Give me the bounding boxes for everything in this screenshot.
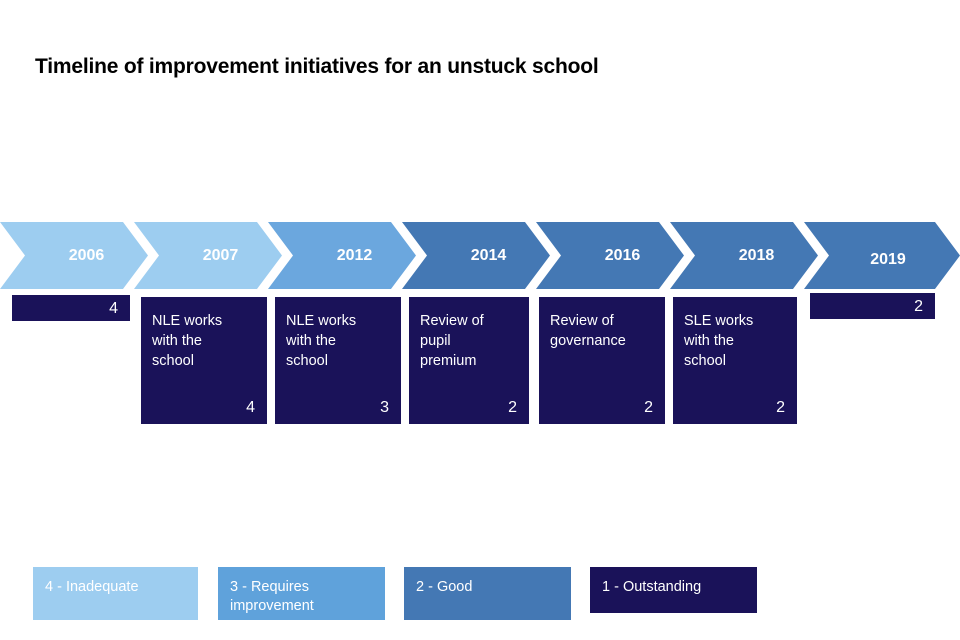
legend-item-4[interactable]: 1 - Outstanding bbox=[590, 567, 757, 613]
legend-item-label: 1 - Outstanding bbox=[602, 578, 757, 597]
legend-item-2[interactable]: 3 - Requires improvement bbox=[218, 567, 385, 620]
legend-item-3[interactable]: 2 - Good bbox=[404, 567, 571, 620]
legend-item-label: 2 - Good bbox=[416, 578, 571, 597]
legend-item-1[interactable]: 4 - Inadequate bbox=[33, 567, 198, 620]
legend-item-label: 3 - Requires improvement bbox=[230, 578, 385, 616]
legend-item-label: 4 - Inadequate bbox=[45, 578, 198, 597]
legend: 4 - Inadequate3 - Requires improvement2 … bbox=[0, 0, 960, 640]
